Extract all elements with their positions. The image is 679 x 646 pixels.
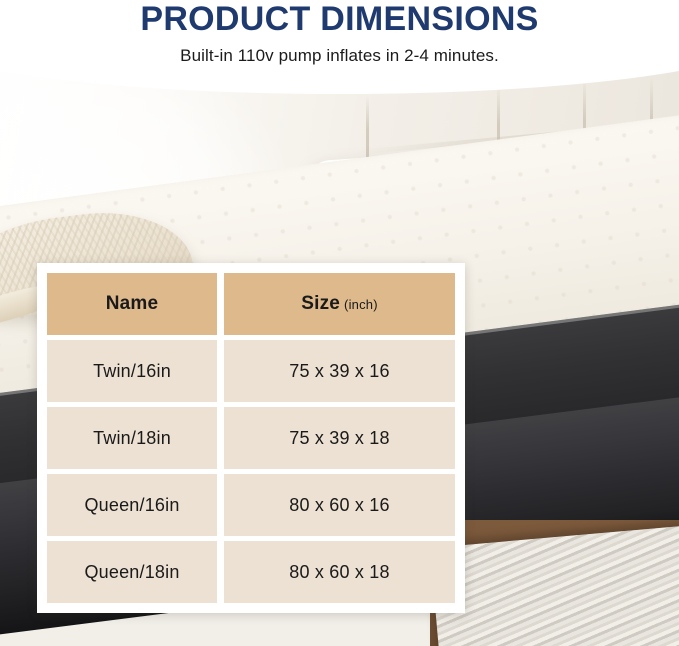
product-dimensions-infographic: PRODUCT DIMENSIONS Built-in 110v pump in…	[0, 0, 679, 646]
cell-size: 80 x 60 x 16	[224, 474, 455, 536]
cell-size: 80 x 60 x 18	[224, 541, 455, 603]
cell-name: Queen/18in	[47, 541, 217, 603]
column-header-size: Size (inch)	[224, 273, 455, 335]
column-header-name-label: Name	[106, 293, 159, 315]
header-text-block: PRODUCT DIMENSIONS Built-in 110v pump in…	[0, 0, 679, 66]
column-header-name: Name	[47, 273, 217, 335]
cell-name: Queen/16in	[47, 474, 217, 536]
column-header-size-unit: (inch)	[344, 297, 378, 312]
dimensions-table: Name Size (inch) Twin/16in 75 x 39 x 16 …	[37, 263, 465, 613]
page-title: PRODUCT DIMENSIONS	[0, 2, 679, 38]
cell-size: 75 x 39 x 16	[224, 340, 455, 402]
page-subtitle: Built-in 110v pump inflates in 2-4 minut…	[0, 46, 679, 66]
table-row: Twin/18in 75 x 39 x 18	[47, 407, 455, 469]
cell-name: Twin/16in	[47, 340, 217, 402]
table-row: Queen/18in 80 x 60 x 18	[47, 541, 455, 603]
column-header-size-label: Size	[301, 293, 340, 315]
table-header-row: Name Size (inch)	[47, 273, 455, 335]
cell-name: Twin/18in	[47, 407, 217, 469]
table-row: Twin/16in 75 x 39 x 16	[47, 340, 455, 402]
table-row: Queen/16in 80 x 60 x 16	[47, 474, 455, 536]
cell-size: 75 x 39 x 18	[224, 407, 455, 469]
